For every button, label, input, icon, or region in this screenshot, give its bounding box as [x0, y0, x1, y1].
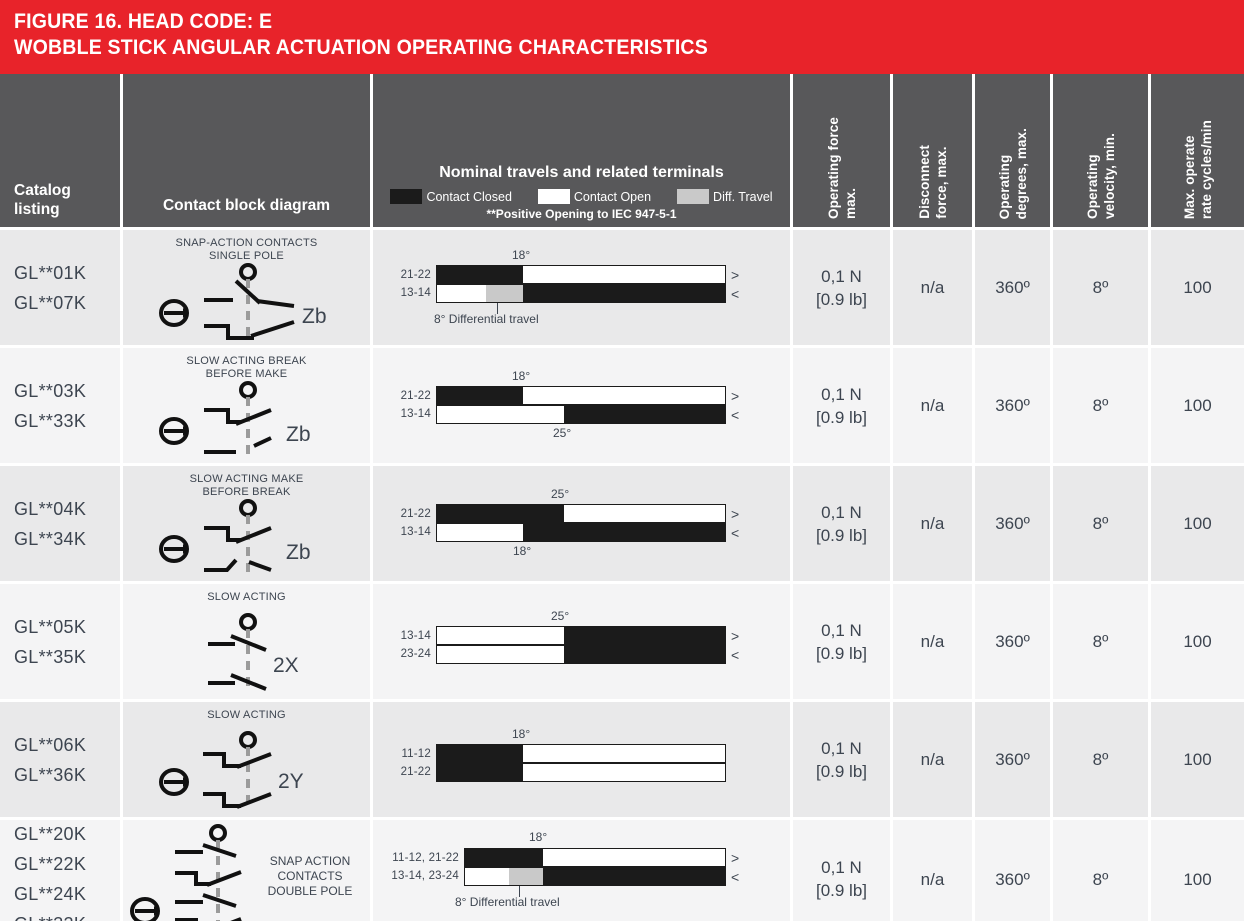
diagram-label-line1: SLOW ACTING BREAK	[186, 355, 306, 367]
terminal-label: 13-14	[378, 629, 431, 643]
header-nominal-travels: Nominal travels and related terminals Co…	[373, 74, 793, 227]
cell-operating-force: 0,1 N [0.9 lb]	[793, 702, 893, 817]
operating-force-value: 0,1 N	[821, 739, 862, 758]
cell-operating-velocity: 8º	[1053, 820, 1151, 921]
header-catalog-listing-line1: Catalog	[14, 182, 71, 199]
cell-contact-block-diagram: SLOW ACTING BREAK BEFORE MAKE	[123, 348, 373, 463]
contact-closed-swatch-icon	[390, 189, 422, 204]
cell-contact-block-diagram: SLOW ACTING MAKE BEFORE BREAK	[123, 466, 373, 581]
cell-disconnect-force: n/a	[893, 230, 975, 345]
cell-operating-velocity: 8º	[1053, 466, 1151, 581]
arrow-right-icon: >	[731, 851, 739, 865]
catalog-code: GL**04K	[14, 494, 86, 524]
travel-bar-track	[436, 405, 726, 424]
disconnect-force-value: n/a	[893, 348, 972, 463]
cell-catalog-listing: GL**20K GL**22K GL**24K GL**32K	[0, 820, 123, 921]
cell-disconnect-force: n/a	[893, 466, 975, 581]
header-max-operate-rate-line1: Max. operate	[1182, 135, 1197, 219]
arrow-right-icon: >	[731, 389, 739, 403]
cell-operating-force: 0,1 N [0.9 lb]	[793, 820, 893, 921]
operating-degrees-value: 360º	[975, 230, 1050, 345]
terminal-label: 21-22	[378, 268, 431, 282]
header-operating-force-line1: Operating force	[826, 117, 841, 219]
cell-operating-force: 0,1 N [0.9 lb]	[793, 230, 893, 345]
arrow-right-icon: >	[731, 507, 739, 521]
figure-title-line-1: FIGURE 16. HEAD CODE: E	[14, 9, 1145, 35]
header-disconnect-force-line2: force, max.	[934, 147, 949, 219]
diagram-label-line2: BEFORE BREAK	[203, 486, 291, 498]
svg-text:Zb: Zb	[286, 423, 311, 446]
travel-bar-track	[436, 284, 726, 303]
operating-velocity-value: 8º	[1053, 820, 1148, 921]
cell-max-operate-rate: 100	[1151, 702, 1244, 817]
operating-force-imperial: [0.9 lb]	[816, 408, 867, 427]
operating-velocity-value: 8º	[1053, 348, 1148, 463]
table-row: GL**04K GL**34K SLOW ACTING MAKE BEFORE …	[0, 466, 1244, 584]
cell-max-operate-rate: 100	[1151, 348, 1244, 463]
diagram-side-label-line2: CONTACTS	[277, 869, 342, 883]
catalog-code: GL**22K	[14, 849, 86, 879]
cell-contact-block-diagram: SLOW ACTING 2Y	[123, 702, 373, 817]
catalog-code: GL**32K	[14, 909, 86, 921]
diagram-side-label-line3: DOUBLE POLE	[268, 884, 353, 898]
cell-operating-degrees: 360º	[975, 230, 1053, 345]
cell-max-operate-rate: 100	[1151, 466, 1244, 581]
disconnect-force-value: n/a	[893, 230, 972, 345]
top-degree-label: 18°	[512, 369, 530, 383]
cell-disconnect-force: n/a	[893, 820, 975, 921]
header-disconnect-force: Disconnect force, max.	[893, 74, 975, 227]
header-operating-velocity-line2: velocity, min.	[1102, 133, 1117, 219]
cell-nominal-travels: 25° 13-14 23-24 > <	[373, 584, 793, 699]
travel-bar-track	[436, 265, 726, 284]
operating-force-value: 0,1 N	[821, 858, 862, 877]
bottom-degree-label: 18°	[513, 544, 531, 558]
catalog-code: GL**35K	[14, 642, 86, 672]
terminal-label: 11-12, 21-22	[373, 851, 459, 865]
figure-16-table: FIGURE 16. HEAD CODE: E WOBBLE STICK ANG…	[0, 0, 1244, 921]
header-operating-degrees-line1: Operating	[997, 154, 1012, 219]
cell-operating-force: 0,1 N [0.9 lb]	[793, 584, 893, 699]
diagram-side-label-line1: SNAP ACTION	[270, 854, 350, 868]
operating-velocity-value: 8º	[1053, 584, 1148, 699]
header-contact-block-diagram: Contact block diagram	[123, 74, 373, 227]
cell-nominal-travels: 25° 21-22 13-14 > < 18°	[373, 466, 793, 581]
operating-force-imperial: [0.9 lb]	[816, 290, 867, 309]
cell-contact-block-diagram: SLOW ACTING 2X	[123, 584, 373, 699]
legend-label-contact-closed: Contact Closed	[426, 190, 511, 204]
header-catalog-listing: Catalog listing	[0, 74, 123, 227]
earth-symbol-icon	[161, 770, 189, 794]
cell-operating-force: 0,1 N [0.9 lb]	[793, 348, 893, 463]
header-operating-velocity: Operating velocity, min.	[1053, 74, 1151, 227]
table-row: GL**01K GL**07K SNAP-ACTION CONTACTS SIN…	[0, 230, 1244, 348]
top-degree-label: 18°	[512, 248, 530, 262]
max-operate-rate-value: 100	[1151, 702, 1244, 817]
figure-title-banner: FIGURE 16. HEAD CODE: E WOBBLE STICK ANG…	[0, 0, 1244, 74]
header-disconnect-force-line1: Disconnect	[917, 145, 932, 219]
catalog-code: GL**05K	[14, 612, 86, 642]
cell-nominal-travels: 18° 11-12, 21-22 13-14, 23-24 > < 8° Dif…	[373, 820, 793, 921]
catalog-code: GL**24K	[14, 879, 86, 909]
cell-operating-degrees: 360º	[975, 348, 1053, 463]
terminal-label: 21-22	[378, 507, 431, 521]
travel-bar-track	[436, 744, 726, 763]
header-operating-force: Operating force max.	[793, 74, 893, 227]
cell-catalog-listing: GL**04K GL**34K	[0, 466, 123, 581]
catalog-code: GL**20K	[14, 819, 86, 849]
cell-operating-degrees: 360º	[975, 584, 1053, 699]
cell-operating-degrees: 360º	[975, 702, 1053, 817]
catalog-code: GL**03K	[14, 376, 86, 406]
table-header-row: Catalog listing Contact block diagram No…	[0, 74, 1244, 230]
operating-force-value: 0,1 N	[821, 621, 862, 640]
header-operating-degrees-line2: degrees, max.	[1014, 128, 1029, 219]
cell-catalog-listing: GL**06K GL**36K	[0, 702, 123, 817]
terminal-label: 21-22	[378, 389, 431, 403]
cell-disconnect-force: n/a	[893, 702, 975, 817]
operating-force-value: 0,1 N	[821, 385, 862, 404]
travel-bar-track	[436, 763, 726, 782]
diagram-label-line1: SLOW ACTING	[207, 591, 286, 603]
catalog-code: GL**07K	[14, 288, 86, 318]
operating-force-imperial: [0.9 lb]	[816, 762, 867, 781]
travel-bar-track	[436, 626, 726, 645]
table-row: GL**20K GL**22K GL**24K GL**32K	[0, 820, 1244, 921]
operating-velocity-value: 8º	[1053, 702, 1148, 817]
disconnect-force-value: n/a	[893, 466, 972, 581]
catalog-code: GL**36K	[14, 760, 86, 790]
earth-symbol-icon	[161, 301, 189, 325]
operating-velocity-value: 8º	[1053, 466, 1148, 581]
header-travels-title: Nominal travels and related terminals	[373, 164, 790, 182]
earth-symbol-icon	[132, 899, 160, 921]
arrow-left-icon: <	[731, 287, 739, 301]
diagram-label-line2: BEFORE MAKE	[206, 368, 288, 380]
cell-nominal-travels: 18° 11-12 21-22	[373, 702, 793, 817]
cell-disconnect-force: n/a	[893, 348, 975, 463]
header-max-operate-rate: Max. operate rate cycles/min	[1151, 74, 1244, 227]
travel-bar-track	[464, 848, 726, 867]
legend-item-diff-travel: Diff. Travel	[677, 189, 773, 204]
cell-operating-velocity: 8º	[1053, 702, 1151, 817]
table-row: GL**06K GL**36K SLOW ACTING	[0, 702, 1244, 820]
arrow-right-icon: >	[731, 268, 739, 282]
top-degree-label: 18°	[529, 830, 547, 844]
max-operate-rate-value: 100	[1151, 230, 1244, 345]
travel-bar-track	[436, 645, 726, 664]
max-operate-rate-value: 100	[1151, 584, 1244, 699]
cell-operating-velocity: 8º	[1053, 230, 1151, 345]
travels-legend: Contact Closed Contact Open Diff. Travel	[373, 189, 790, 204]
terminal-label: 21-22	[378, 765, 431, 779]
catalog-code: GL**01K	[14, 258, 86, 288]
cell-catalog-listing: GL**01K GL**07K	[0, 230, 123, 345]
diff-travel-note: 8° Differential travel	[434, 312, 539, 326]
diagram-label-line1: SLOW ACTING MAKE	[190, 473, 304, 485]
header-max-operate-rate-line2: rate cycles/min	[1199, 120, 1214, 219]
max-operate-rate-value: 100	[1151, 820, 1244, 921]
header-operating-degrees: Operating degrees, max.	[975, 74, 1053, 227]
operating-degrees-value: 360º	[975, 348, 1050, 463]
diagram-label-line1: SNAP-ACTION CONTACTS	[176, 237, 318, 249]
operating-force-value: 0,1 N	[821, 267, 862, 286]
legend-item-contact-closed: Contact Closed	[390, 189, 511, 204]
terminal-label: 11-12	[378, 747, 431, 761]
earth-symbol-icon	[161, 419, 189, 443]
terminal-label: 13-14, 23-24	[373, 869, 459, 883]
travel-bar-track	[436, 523, 726, 542]
top-degree-label: 25°	[551, 609, 569, 623]
arrow-left-icon: <	[731, 408, 739, 422]
header-catalog-listing-line2: listing	[14, 201, 60, 218]
characteristics-table: Catalog listing Contact block diagram No…	[0, 74, 1244, 921]
svg-text:Zb: Zb	[302, 305, 327, 328]
cell-catalog-listing: GL**03K GL**33K	[0, 348, 123, 463]
legend-item-contact-open: Contact Open	[538, 189, 651, 204]
cell-disconnect-force: n/a	[893, 584, 975, 699]
diagram-label-line1: SLOW ACTING	[207, 709, 286, 721]
svg-text:Zb: Zb	[286, 541, 311, 564]
operating-force-imperial: [0.9 lb]	[816, 644, 867, 663]
svg-text:2X: 2X	[273, 654, 299, 677]
cell-catalog-listing: GL**05K GL**35K	[0, 584, 123, 699]
cell-operating-degrees: 360º	[975, 820, 1053, 921]
operating-force-imperial: [0.9 lb]	[816, 526, 867, 545]
arrow-right-icon: >	[731, 629, 739, 643]
diff-travel-note: 8° Differential travel	[455, 895, 560, 909]
catalog-code: GL**06K	[14, 730, 86, 760]
cell-max-operate-rate: 100	[1151, 584, 1244, 699]
top-degree-label: 25°	[551, 487, 569, 501]
diagram-label-line2: SINGLE POLE	[209, 250, 284, 262]
disconnect-force-value: n/a	[893, 820, 972, 921]
cell-operating-degrees: 360º	[975, 466, 1053, 581]
operating-degrees-value: 360º	[975, 820, 1050, 921]
bottom-degree-label: 25°	[553, 426, 571, 440]
terminal-label: 13-14	[378, 407, 431, 421]
table-row: GL**03K GL**33K SLOW ACTING BREAK BEFORE…	[0, 348, 1244, 466]
header-operating-force-line2: max.	[843, 188, 858, 219]
operating-force-imperial: [0.9 lb]	[816, 881, 867, 900]
cell-nominal-travels: 18° 21-22 13-14 > < 8° Differential trav…	[373, 230, 793, 345]
max-operate-rate-value: 100	[1151, 466, 1244, 581]
arrow-left-icon: <	[731, 526, 739, 540]
terminal-label: 13-14	[378, 286, 431, 300]
terminal-label: 23-24	[378, 647, 431, 661]
travel-bar-track	[436, 504, 726, 523]
cell-max-operate-rate: 100	[1151, 820, 1244, 921]
max-operate-rate-value: 100	[1151, 348, 1244, 463]
arrow-left-icon: <	[731, 648, 739, 662]
contact-open-swatch-icon	[538, 189, 570, 204]
operating-degrees-value: 360º	[975, 584, 1050, 699]
cell-contact-block-diagram: SNAP-ACTION CONTACTS SINGLE POLE	[123, 230, 373, 345]
header-footnote: **Positive Opening to IEC 947-5-1	[373, 207, 790, 221]
cell-operating-velocity: 8º	[1053, 584, 1151, 699]
earth-symbol-icon	[161, 537, 189, 561]
disconnect-force-value: n/a	[893, 702, 972, 817]
cell-contact-block-diagram: SNAP ACTION CONTACTS DOUBLE POLE	[123, 820, 373, 921]
header-operating-velocity-line1: Operating	[1085, 154, 1100, 219]
operating-force-value: 0,1 N	[821, 503, 862, 522]
travel-bar-track	[464, 867, 726, 886]
legend-label-diff-travel: Diff. Travel	[713, 190, 773, 204]
catalog-code: GL**34K	[14, 524, 86, 554]
cell-operating-velocity: 8º	[1053, 348, 1151, 463]
operating-velocity-value: 8º	[1053, 230, 1148, 345]
cell-operating-force: 0,1 N [0.9 lb]	[793, 466, 893, 581]
legend-label-contact-open: Contact Open	[574, 190, 651, 204]
svg-text:2Y: 2Y	[278, 770, 304, 793]
diff-travel-swatch-icon	[677, 189, 709, 204]
table-row: GL**05K GL**35K SLOW ACTING	[0, 584, 1244, 702]
figure-title-line-2: WOBBLE STICK ANGULAR ACTUATION OPERATING…	[14, 35, 1145, 61]
operating-degrees-value: 360º	[975, 466, 1050, 581]
arrow-left-icon: <	[731, 870, 739, 884]
top-degree-label: 18°	[512, 727, 530, 741]
cell-nominal-travels: 18° 21-22 13-14 > < 25°	[373, 348, 793, 463]
travel-bar-track	[436, 386, 726, 405]
cell-max-operate-rate: 100	[1151, 230, 1244, 345]
catalog-code: GL**33K	[14, 406, 86, 436]
operating-degrees-value: 360º	[975, 702, 1050, 817]
disconnect-force-value: n/a	[893, 584, 972, 699]
terminal-label: 13-14	[378, 525, 431, 539]
